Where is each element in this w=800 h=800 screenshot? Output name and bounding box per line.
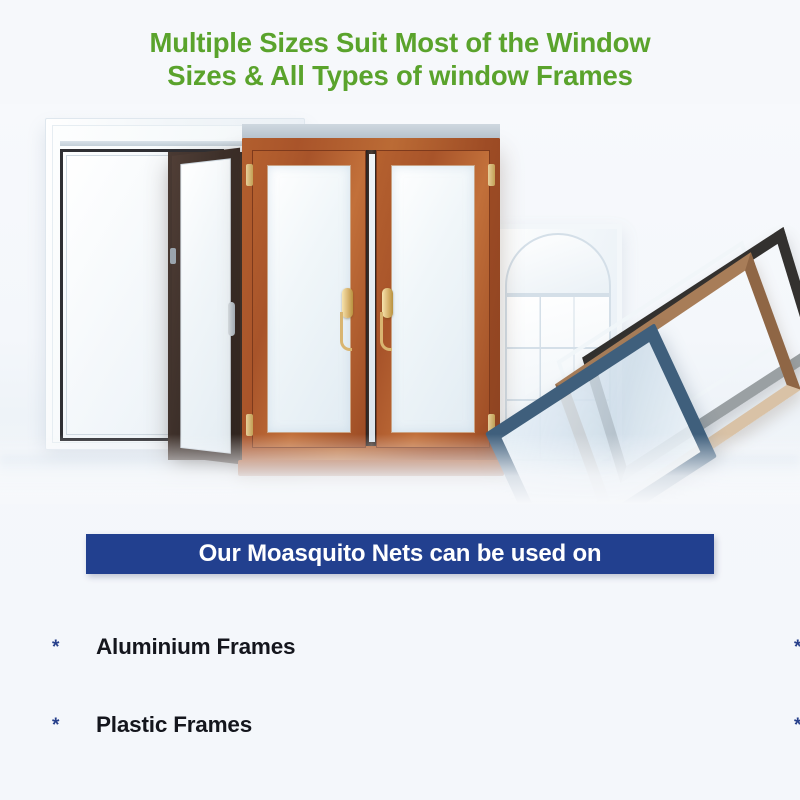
asterisk-icon: * [794, 716, 800, 735]
promo-page: Multiple Sizes Suit Most of the Window S… [0, 0, 800, 800]
dark-leaf-handle [228, 302, 235, 336]
frame-types-list: * Aluminium Frames * Wooden Frames * Pla… [0, 608, 800, 764]
page-title-line-2: Sizes & All Types of window Frames [0, 59, 800, 92]
arch-top-light [505, 233, 611, 295]
photo-fade [0, 434, 800, 504]
wood-hinge-bottom-left [246, 414, 253, 436]
list-item-label: Aluminium Frames [96, 634, 295, 660]
wood-hinge-top-left [246, 164, 253, 186]
brass-handle-left [342, 288, 353, 318]
asterisk-icon: * [52, 716, 96, 735]
asterisk-icon: * [794, 638, 800, 657]
list-item-label: Plastic Frames [96, 712, 252, 738]
usage-banner: Our Moasquito Nets can be used on [86, 534, 714, 574]
page-title: Multiple Sizes Suit Most of the Window S… [0, 26, 800, 92]
dark-hinge [170, 248, 176, 264]
brass-handle-right [382, 288, 393, 318]
wooden-teak-double-casement-window [242, 138, 500, 464]
wood-hinge-top-right [488, 164, 495, 186]
wood-sash-right [376, 150, 490, 448]
usage-banner-text: Our Moasquito Nets can be used on [199, 542, 602, 566]
product-photo [0, 104, 800, 504]
list-item: * Wooden Frames [390, 608, 794, 686]
page-title-line-1: Multiple Sizes Suit Most of the Window [0, 26, 800, 59]
asterisk-icon: * [52, 638, 96, 657]
list-item: * Aluminium Frames [0, 608, 390, 686]
list-item: * Plastic Frames [0, 686, 390, 764]
wood-top-rail [242, 124, 500, 138]
list-item: * UPVC Frames & more... [390, 686, 794, 764]
